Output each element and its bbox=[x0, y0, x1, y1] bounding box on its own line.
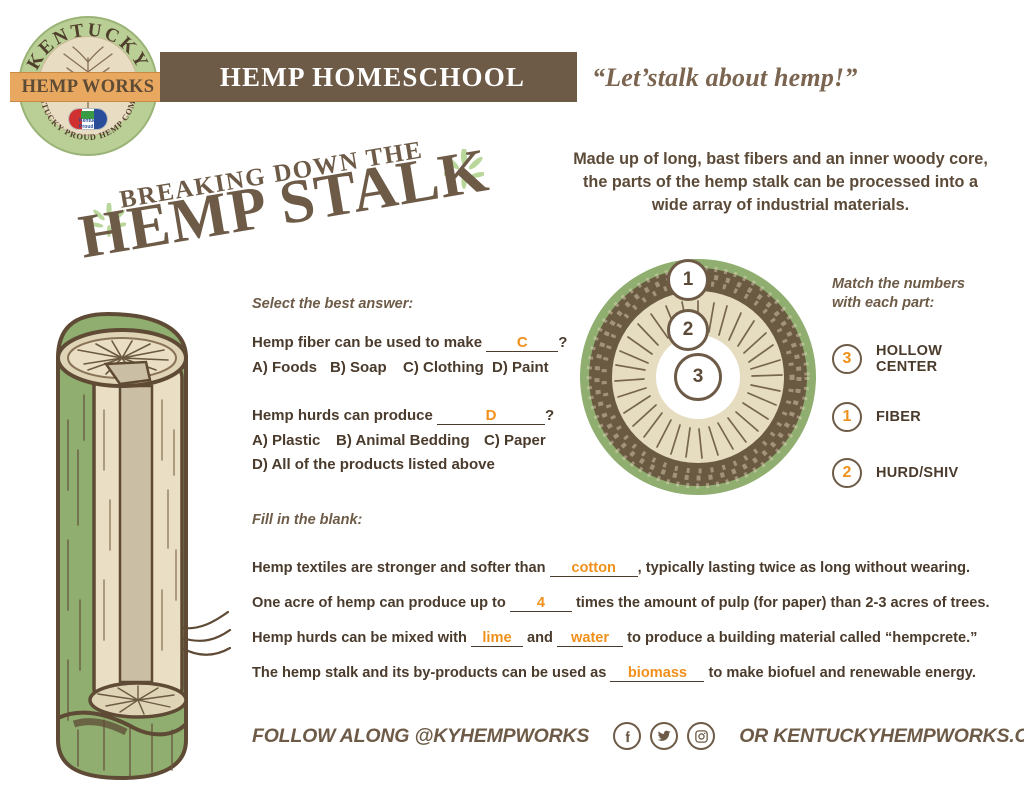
fill-in-answer-water[interactable]: water bbox=[557, 630, 623, 647]
fill-in-section-label: Fill in the blank: bbox=[252, 512, 992, 528]
question-2-options: A) PlasticB) Animal BeddingC) Paper bbox=[252, 432, 562, 449]
legend-heading-line-1: Match the numbers bbox=[832, 275, 1017, 294]
hemp-stalk-illustration bbox=[34, 300, 234, 780]
legend-label-hurd-shiv: HURD/SHIV bbox=[876, 465, 958, 482]
question-2-suffix: ? bbox=[545, 407, 554, 424]
quiz-section-label: Select the best answer: bbox=[252, 296, 562, 312]
kentucky-proud-label: Kentucky Proud bbox=[79, 118, 107, 130]
legend-item-hurd-shiv[interactable]: 2 HURD/SHIV bbox=[832, 458, 1017, 488]
footer-follow-text: FOLLOW ALONG @KYHEMPWORKS bbox=[252, 725, 589, 748]
question-2-text: Hemp hurds can produce bbox=[252, 407, 433, 424]
question-1-suffix: ? bbox=[558, 334, 567, 351]
section-title-big: HEMP STALK bbox=[74, 135, 494, 273]
legend-label-hollow-center-line-1: HOLLOW bbox=[876, 343, 942, 360]
legend-heading-line-2: with each part: bbox=[832, 294, 1017, 313]
twitter-icon[interactable] bbox=[650, 722, 678, 750]
instagram-glyph bbox=[694, 729, 709, 744]
logo-wordmark-band: HEMP WORKS bbox=[10, 72, 166, 102]
question-2-option-c[interactable]: C) Paper bbox=[484, 432, 546, 449]
header-tagline: “Let’stalk about hemp!” bbox=[592, 63, 858, 93]
question-2-prompt: Hemp hurds can produce D? bbox=[252, 407, 562, 425]
question-1-text: Hemp fiber can be used to make bbox=[252, 334, 482, 351]
footer: FOLLOW ALONG @KYHEMPWORKS OR KENTUCKYHEM… bbox=[252, 722, 1024, 750]
fill-in-line-2: One acre of hemp can produce up to 4 tim… bbox=[252, 595, 992, 612]
legend-item-fiber[interactable]: 1 FIBER bbox=[832, 402, 1017, 432]
fill-in-line-4: The hemp stalk and its by-products can b… bbox=[252, 665, 992, 682]
section-title: BREAKING DOWN THE HEMP STALK bbox=[80, 145, 550, 270]
legend-label-hollow-center-line-2: CENTER bbox=[876, 359, 942, 376]
question-1-answer[interactable]: C bbox=[486, 334, 558, 352]
logo-wordmark-text: HEMP WORKS bbox=[22, 77, 155, 98]
fill-in-line-3-after: to produce a building material called “h… bbox=[627, 630, 977, 646]
question-1-option-a[interactable]: A) Foods bbox=[252, 359, 330, 376]
legend-number-1: 1 bbox=[832, 402, 862, 432]
question-2-option-d[interactable]: D) All of the products listed above bbox=[252, 456, 562, 473]
fill-in-line-4-after: to make biofuel and renewable energy. bbox=[709, 665, 976, 681]
fill-in-line-1: Hemp textiles are stronger and softer th… bbox=[252, 560, 992, 577]
legend-number-2: 2 bbox=[832, 458, 862, 488]
question-2-option-b[interactable]: B) Animal Bedding bbox=[336, 432, 484, 449]
fill-in-line-2-before: One acre of hemp can produce up to bbox=[252, 595, 506, 611]
question-1-option-b[interactable]: B) Soap bbox=[330, 359, 403, 376]
legend-heading: Match the numbers with each part: bbox=[832, 275, 1017, 313]
hemp-stalk-cross-section-diagram: 1 2 3 bbox=[578, 257, 818, 497]
legend-number-3: 3 bbox=[832, 344, 862, 374]
fill-in-line-1-before: Hemp textiles are stronger and softer th… bbox=[252, 560, 546, 576]
question-1-prompt: Hemp fiber can be used to make C? bbox=[252, 334, 562, 352]
fill-in-answer-biomass[interactable]: biomass bbox=[610, 665, 704, 682]
facebook-glyph bbox=[620, 729, 635, 744]
legend-item-hollow-center[interactable]: 3 HOLLOW CENTER bbox=[832, 343, 1017, 376]
page-title: HEMP HOMESCHOOL bbox=[175, 62, 570, 93]
kentucky-proud-badge: Kentucky Proud bbox=[68, 108, 108, 130]
fill-in-the-blank-section: Fill in the blank: Hemp textiles are str… bbox=[252, 512, 992, 682]
question-2-answer[interactable]: D bbox=[437, 407, 545, 425]
twitter-glyph bbox=[656, 728, 672, 744]
question-1-options: A) FoodsB) SoapC) ClothingD) Paint bbox=[252, 359, 562, 376]
fill-in-line-3-before: Hemp hurds can be mixed with bbox=[252, 630, 467, 646]
legend-label-hollow-center: HOLLOW CENTER bbox=[876, 343, 942, 376]
intro-paragraph: Made up of long, bast fibers and an inne… bbox=[563, 148, 998, 217]
kentucky-hemp-works-logo: KENTUCKY A KENTUCKY PROUD HEMP COMPANY K… bbox=[18, 16, 158, 156]
question-2-option-a[interactable]: A) Plastic bbox=[252, 432, 336, 449]
fill-in-line-4-before: The hemp stalk and its by-products can b… bbox=[252, 665, 606, 681]
question-1-option-d[interactable]: D) Paint bbox=[492, 359, 549, 376]
diagram-marker-1[interactable]: 1 bbox=[667, 259, 709, 301]
question-1-option-c[interactable]: C) Clothing bbox=[403, 359, 492, 376]
fill-in-answer-lime[interactable]: lime bbox=[471, 630, 523, 647]
fill-in-line-3: Hemp hurds can be mixed with lime and wa… bbox=[252, 630, 992, 647]
diagram-legend: Match the numbers with each part: 3 HOLL… bbox=[832, 275, 1017, 488]
diagram-marker-3[interactable]: 3 bbox=[674, 353, 722, 401]
legend-label-fiber: FIBER bbox=[876, 409, 921, 426]
quiz-section: Select the best answer: Hemp fiber can b… bbox=[252, 296, 562, 473]
fill-in-answer-four[interactable]: 4 bbox=[510, 595, 572, 612]
instagram-icon[interactable] bbox=[687, 722, 715, 750]
footer-website-text: OR KENTUCKYHEMPWORKS.COM bbox=[739, 725, 1024, 748]
fill-in-line-1-after: , typically lasting twice as long withou… bbox=[638, 560, 970, 576]
fill-in-answer-cotton[interactable]: cotton bbox=[550, 560, 638, 577]
fill-in-line-3-middle: and bbox=[527, 630, 553, 646]
fill-in-line-2-after: times the amount of pulp (for paper) tha… bbox=[576, 595, 990, 611]
facebook-icon[interactable] bbox=[613, 722, 641, 750]
diagram-marker-2[interactable]: 2 bbox=[667, 309, 709, 351]
